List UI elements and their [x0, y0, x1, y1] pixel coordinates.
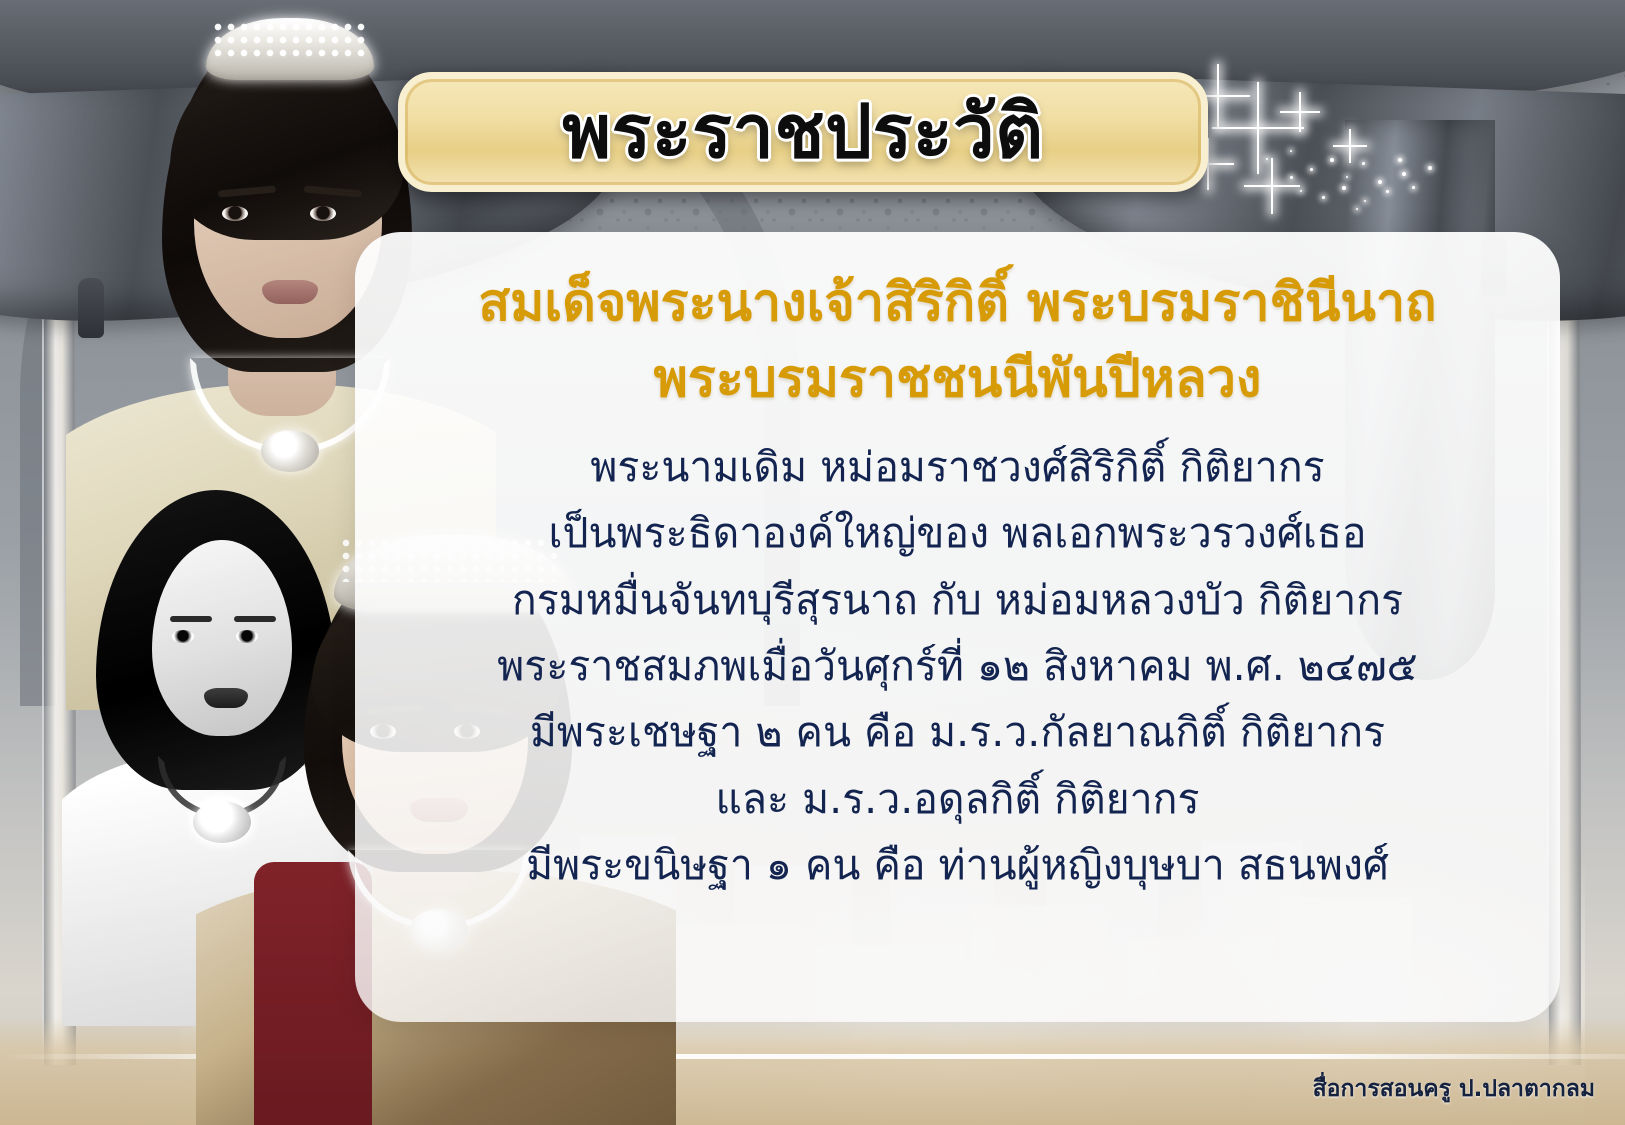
biography-line: พระนามเดิม หม่อมราชวงศ์สิริกิติ์ กิติยาก…: [355, 434, 1560, 500]
biography-text-block: พระนามเดิม หม่อมราชวงศ์สิริกิติ์ กิติยาก…: [355, 434, 1560, 899]
title-banner: พระราชประวัติ: [398, 72, 1208, 192]
poster-root: พระราชประวัติ สมเด็จพระนางเจ้าสิริกิติ์ …: [0, 0, 1625, 1125]
content-panel: สมเด็จพระนางเจ้าสิริกิติ์ พระบรมราชินีนา…: [355, 232, 1560, 1022]
headline-block: สมเด็จพระนางเจ้าสิริกิติ์ พระบรมราชินีนา…: [355, 232, 1560, 418]
biography-line: พระราชสมภพเมื่อวันศุกร์ที่ ๑๒ สิงหาคม พ.…: [355, 633, 1560, 699]
page-title: พระราชประวัติ: [562, 95, 1043, 169]
sparkle-dust-icon: [1386, 190, 1389, 193]
headline-line-1: สมเด็จพระนางเจ้าสิริกิติ์ พระบรมราชินีนา…: [478, 273, 1436, 333]
biography-line: กรมหมื่นจันทบุรีสุรนาถ กับ หม่อมหลวงบัว …: [355, 567, 1560, 633]
sparkle-dust-icon: [1330, 158, 1334, 162]
biography-line: มีพระเชษฐา ๒ คน คือ ม.ร.ว.กัลยาณกิติ์ กิ…: [355, 699, 1560, 765]
biography-line: มีพระขนิษฐา ๑ คน คือ ท่านผู้หญิงบุษบา สธ…: [355, 832, 1560, 898]
sparkle-dust-icon: [1300, 190, 1302, 192]
biography-line: และ ม.ร.ว.อดุลกิติ์ กิติยากร: [355, 766, 1560, 832]
sparkle-dust-icon: [1412, 186, 1415, 189]
sparkle-dust-icon: [1356, 208, 1358, 210]
sparkle-dust-icon: [1290, 150, 1292, 152]
sparkle-dust-icon: [1428, 166, 1432, 170]
credit-label: สื่อการสอนครู ป.ปลาตากลม: [1313, 1071, 1595, 1107]
sparkle-dust-icon: [1310, 168, 1313, 171]
sparkle-dust-icon: [1342, 186, 1346, 190]
sparkle-dust-icon: [1362, 162, 1365, 165]
sparkle-dust-icon: [1266, 158, 1268, 160]
sparkle-dust-icon: [1322, 196, 1325, 199]
sparkle-dust-icon: [1398, 158, 1402, 162]
sparkle-dust-icon: [1364, 200, 1366, 202]
headline-line-2: พระบรมราชชนนีพันปีหลวง: [355, 342, 1560, 418]
sparkle-dust-icon: [1402, 172, 1406, 176]
sparkle-dust-icon: [1346, 176, 1348, 178]
sparkle-dust-icon: [1290, 176, 1293, 179]
biography-line: เป็นพระธิดาองค์ใหญ่ของ พลเอกพระวรวงศ์เธอ: [355, 500, 1560, 566]
sparkle-dust-icon: [1378, 180, 1382, 184]
